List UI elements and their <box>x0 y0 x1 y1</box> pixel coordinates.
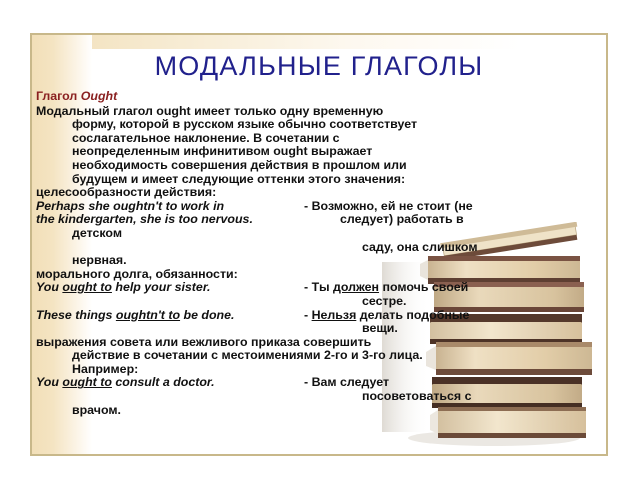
section-1-translation-line-4: саду, она слишком <box>36 241 606 255</box>
dash-2b: - <box>304 308 308 322</box>
translation-1b: следует) работать в <box>304 213 464 227</box>
intro-paragraph: Модальный глагол ought имеет только одну… <box>36 105 606 187</box>
section-1-translation-line-3: детском <box>36 227 606 241</box>
section-1-label: целесообразности действия: <box>36 186 606 200</box>
intro-line-5: необходимость совершения действия в прош… <box>36 159 606 173</box>
slide-body: Глагол Ought Модальный глагол ought имее… <box>36 90 606 417</box>
translation-2b-line2: вещи. <box>304 322 398 336</box>
section-subheading: Глагол Ought <box>36 90 606 104</box>
subheading-ru: Глагол <box>36 89 81 103</box>
example-en-3-underlined: ought to <box>62 375 112 389</box>
presentation-slide: МОДАЛЬНЫЕ ГЛАГОЛЫ Глагол Ought Модальный… <box>30 33 608 456</box>
section-2-example-1: You ought to help your sister.- Ты долже… <box>36 281 606 295</box>
translation-2b-underlined: Нельзя <box>312 308 357 322</box>
example-en-3-post: consult a doctor. <box>112 375 215 389</box>
section-3-label-line-1: выражения совета или вежливого приказа с… <box>36 335 371 349</box>
intro-line-6: будущем и имеет следующие оттенки этого … <box>36 173 606 187</box>
section-3-label-line-3: Например: <box>36 363 606 377</box>
section-2-example-2: These things oughtn't to be done.- Нельз… <box>36 309 606 323</box>
translation-1a: Возможно, ей не стоит (не <box>312 199 473 213</box>
example-en-1a: Perhaps she oughtn't to work in <box>36 200 304 214</box>
translation-2a-line2: сестре. <box>304 295 406 309</box>
translation-1e: нервная. <box>36 254 606 268</box>
dash-2a: - <box>304 280 308 294</box>
section-2-example-1-cont: сестре. <box>36 295 606 309</box>
page-title: МОДАЛЬНЫЕ ГЛАГОЛЫ <box>32 51 606 82</box>
section-3-example: You ought to consult a doctor.- Вам след… <box>36 376 606 390</box>
translation-3c: врачом. <box>36 404 606 418</box>
example-en-2b-underlined: oughtn't to <box>116 308 180 322</box>
example-en-2a-post: help your sister. <box>112 280 210 294</box>
section-1-translation-line-5: нервная. <box>36 254 606 268</box>
intro-line-2: форму, которой в русском языке обычно со… <box>36 118 606 132</box>
example-en-2b-post: be done. <box>180 308 234 322</box>
decorative-top-band <box>32 35 606 49</box>
translation-2a-underlined: должен <box>333 280 379 294</box>
intro-line-3: сослагательное наклонение. В сочетании с <box>36 132 606 146</box>
intro-line-4: неопределенным инфинитивом ought выражае… <box>36 145 606 159</box>
example-en-2a-underlined: ought to <box>62 280 112 294</box>
intro-line-1: Модальный глагол ought имеет только одну… <box>36 104 383 118</box>
section-3-label-line-2: действие в сочетании с местоимениями 2-г… <box>36 349 606 363</box>
section-1-example-line-2: the kindergarten, she is too nervous.сле… <box>36 213 606 227</box>
example-en-1b: the kindergarten, she is too nervous. <box>36 213 304 227</box>
translation-2a-pre: Ты <box>312 280 333 294</box>
section-2-example-2-cont: вещи. <box>36 322 606 336</box>
subheading-en: Ought <box>81 89 117 103</box>
translation-1c: детском <box>36 227 606 241</box>
section-3-translation-line-3: врачом. <box>36 404 606 418</box>
translation-1d: саду, она слишком <box>304 241 478 255</box>
section-3-translation-line-2: посоветоваться с <box>36 390 606 404</box>
section-2-label: морального долга, обязанности: <box>36 268 606 282</box>
example-en-3-pre: You <box>36 375 62 389</box>
translation-2b-post: делать подобные <box>356 308 469 322</box>
translation-3a: Вам следует <box>312 375 389 389</box>
dash-3: - <box>304 375 308 389</box>
example-en-2b-pre: These things <box>36 308 116 322</box>
translation-2a-post: помочь своей <box>379 280 468 294</box>
dash-1: - <box>304 199 308 213</box>
example-en-2a-pre: You <box>36 280 62 294</box>
section-1-example-line-1: Perhaps she oughtn't to work in- Возможн… <box>36 200 606 214</box>
section-3-label: выражения совета или вежливого приказа с… <box>36 336 606 377</box>
translation-3b: посоветоваться с <box>304 390 472 404</box>
